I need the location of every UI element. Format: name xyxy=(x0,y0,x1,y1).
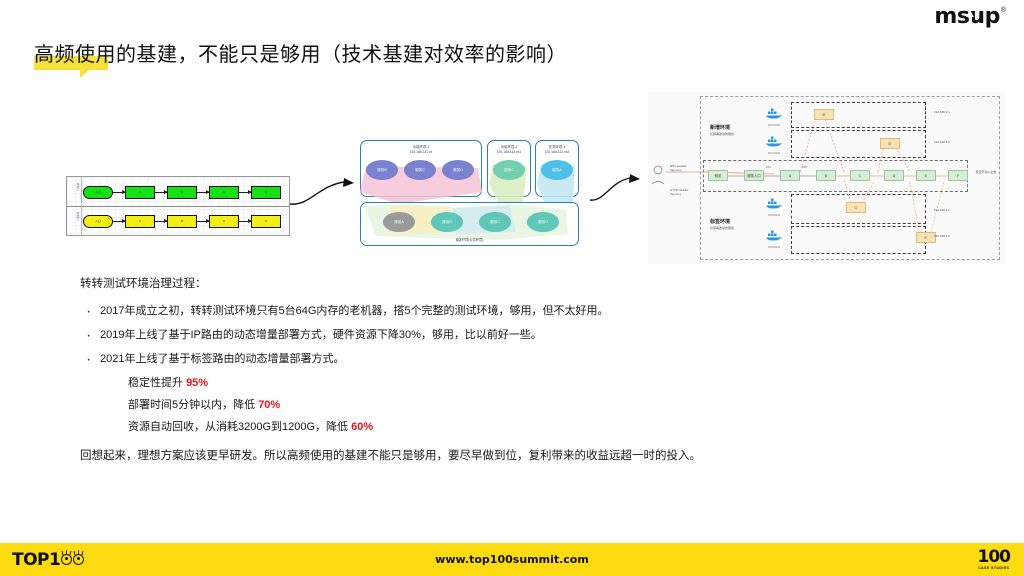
title-text: 高频使用的基建，不能只是够用（技术基建对效率的影响） xyxy=(34,38,567,67)
metric-stability: 稳定性提升 95% xyxy=(128,374,950,390)
lane-label-bottom: 环境二 xyxy=(70,212,80,221)
case-studies-subtitle: CASE STUDIES xyxy=(978,566,1011,570)
node-b-top: B xyxy=(167,186,197,199)
footer-url[interactable]: www.top100summit.com xyxy=(0,553,1024,566)
diagram-lane-divider xyxy=(67,206,289,207)
ip-tag-4: 192.168.2.2 xyxy=(934,234,950,238)
diagram-static-environments: 环境一 环境二 入口 A B C D 入口 A B C D xyxy=(66,176,290,236)
body-content: 转转测试环境治理过程： 2017年成立之初，转转测试环境只有5台64G内存的老机… xyxy=(80,275,950,467)
rpc-label-1: RPC xyxy=(766,166,771,169)
case-studies-logo: 100 CASE STUDIES xyxy=(978,549,1011,569)
registered-icon: ® xyxy=(1001,7,1006,14)
routing-box-b-prime: B' xyxy=(814,109,834,120)
body-lead: 转转测试环境治理过程： xyxy=(80,275,950,291)
bubble-base-service-c: 服务C xyxy=(479,212,511,232)
body-outro: 回想起来，理想方案应该更早研发。所以高频使用的基建不能只是够用，要尽早做到位，复… xyxy=(80,446,950,467)
case-studies-number: 100 xyxy=(978,549,1011,565)
msup-logo: msup ® xyxy=(934,6,1006,28)
bubble-service-c-env1: 服务C xyxy=(404,160,436,180)
env-box-1-title: 功能环境-1 192.168.111.xx xyxy=(361,145,481,155)
node-b-bottom: B xyxy=(167,215,197,228)
msup-arrow-stem-icon xyxy=(969,16,972,23)
slide-root: msup ® 高频使用的基建，不能只是够用（技术基建对效率的影响） 环境一 环境… xyxy=(0,0,1024,576)
chain-box-entry: 服务入口 xyxy=(744,170,764,181)
metrics-list: 稳定性提升 95% 部署时间5分钟以内，降低 70% 资源自动回收，从消耗320… xyxy=(128,374,950,434)
bullet-item-1: 2017年成立之初，转转测试环境只有5台64G内存的老机器，搭5个完整的测试环境… xyxy=(80,305,950,318)
diagram-lane-separator xyxy=(81,177,82,235)
node-c-bottom: C xyxy=(209,215,239,228)
flow-arrow-two-icon xyxy=(588,168,650,208)
ip-tag-3: 192.168.2.1 xyxy=(934,208,950,212)
bubble-service-b-env1: 服务B xyxy=(366,160,398,180)
bubble-service-c-env2: 服务C xyxy=(493,160,525,180)
chain-box-gateway: 网关 xyxy=(708,170,728,181)
ip-tag-1: 192.168.1.1 xyxy=(934,110,950,114)
chain-box-a: A xyxy=(780,170,800,181)
env-box-3-title: 压测环境-3 192.168.111.xx2 xyxy=(536,145,578,155)
bubble-base-service-b: 服务B xyxy=(431,212,463,232)
bubble-base-service-d: 服务D xyxy=(527,212,559,232)
node-entry-top: 入口 xyxy=(83,186,113,199)
stable-env-tail-label: 稳定环境\n全量 xyxy=(970,170,1002,174)
chain-box-c: C xyxy=(850,170,870,181)
routing-box-c-prime: C' xyxy=(846,202,866,213)
env-box-2-title: 功能环境-2 192.168.111.xx1 xyxy=(488,145,530,155)
node-entry-bottom: 入口 xyxy=(83,215,113,228)
node-d-bottom: D xyxy=(251,215,281,228)
metric-resource: 资源自动回收，从消耗3200G到1200G，降低 60% xyxy=(128,418,950,434)
diagram-label-routing: 新增环境 仅部署改动的服务 标签环境 仅部署改动的服务 DOCKER DOCKE… xyxy=(648,92,1006,264)
http-header-label: HTTP HeaderTag=xxx xyxy=(670,188,688,196)
ip-tag-2: 192.168.1.2 xyxy=(934,140,950,144)
rpc-label-2: RPC xyxy=(802,166,807,169)
lane-row-bottom: 入口 A B C D xyxy=(83,210,287,232)
bubble-service-a-env3: 服务A xyxy=(541,160,573,180)
chain-box-e: E xyxy=(916,170,936,181)
footer-bar: TOP1 www.top100summit.com 100 CASE STUDI… xyxy=(0,543,1024,576)
chain-box-b: B xyxy=(816,170,836,181)
bubble-base-service-a: 服务A xyxy=(383,212,415,232)
node-a-top: A xyxy=(125,186,155,199)
env-box-base: 服务A 服务B 服务C 服务D 稳定环境(公共环境) xyxy=(360,202,579,246)
diagram-ip-routing-environments: 功能环境-1 192.168.111.xx 功能环境-2 192.168.111… xyxy=(356,136,582,250)
base-caption: 稳定环境(公共环境) xyxy=(361,237,578,242)
page-title: 高频使用的基建，不能只是够用（技术基建对效率的影响） xyxy=(34,38,567,67)
bullet-item-2: 2019年上线了基于IP路由的动态增量部署方式，硬件资源下降30%，够用，比以前… xyxy=(80,329,950,342)
routing-box-d-prime: D' xyxy=(880,138,900,149)
body-bullet-list: 2017年成立之初，转转测试环境只有5台64G内存的老机器，搭5个完整的测试环境… xyxy=(80,305,950,367)
node-c-top: C xyxy=(209,186,239,199)
lane-row-top: 入口 A B C D xyxy=(83,181,287,203)
node-a-bottom: A xyxy=(125,215,155,228)
bullet-item-3: 2021年上线了基于标签路由的动态增量部署方式。 xyxy=(80,353,950,366)
metric-deploy-time: 部署时间5分钟以内，降低 70% xyxy=(128,396,950,412)
lane-label-top: 环境一 xyxy=(70,183,80,192)
rpc-header-label: RPC HeaderTag=xxx xyxy=(670,164,687,172)
bubble-service-d-env1: 服务D xyxy=(442,160,474,180)
chain-box-d: D xyxy=(884,170,904,181)
node-d-top: D xyxy=(251,186,281,199)
routing-box-e-prime: E' xyxy=(916,232,936,243)
chain-box-f: F xyxy=(948,170,968,181)
